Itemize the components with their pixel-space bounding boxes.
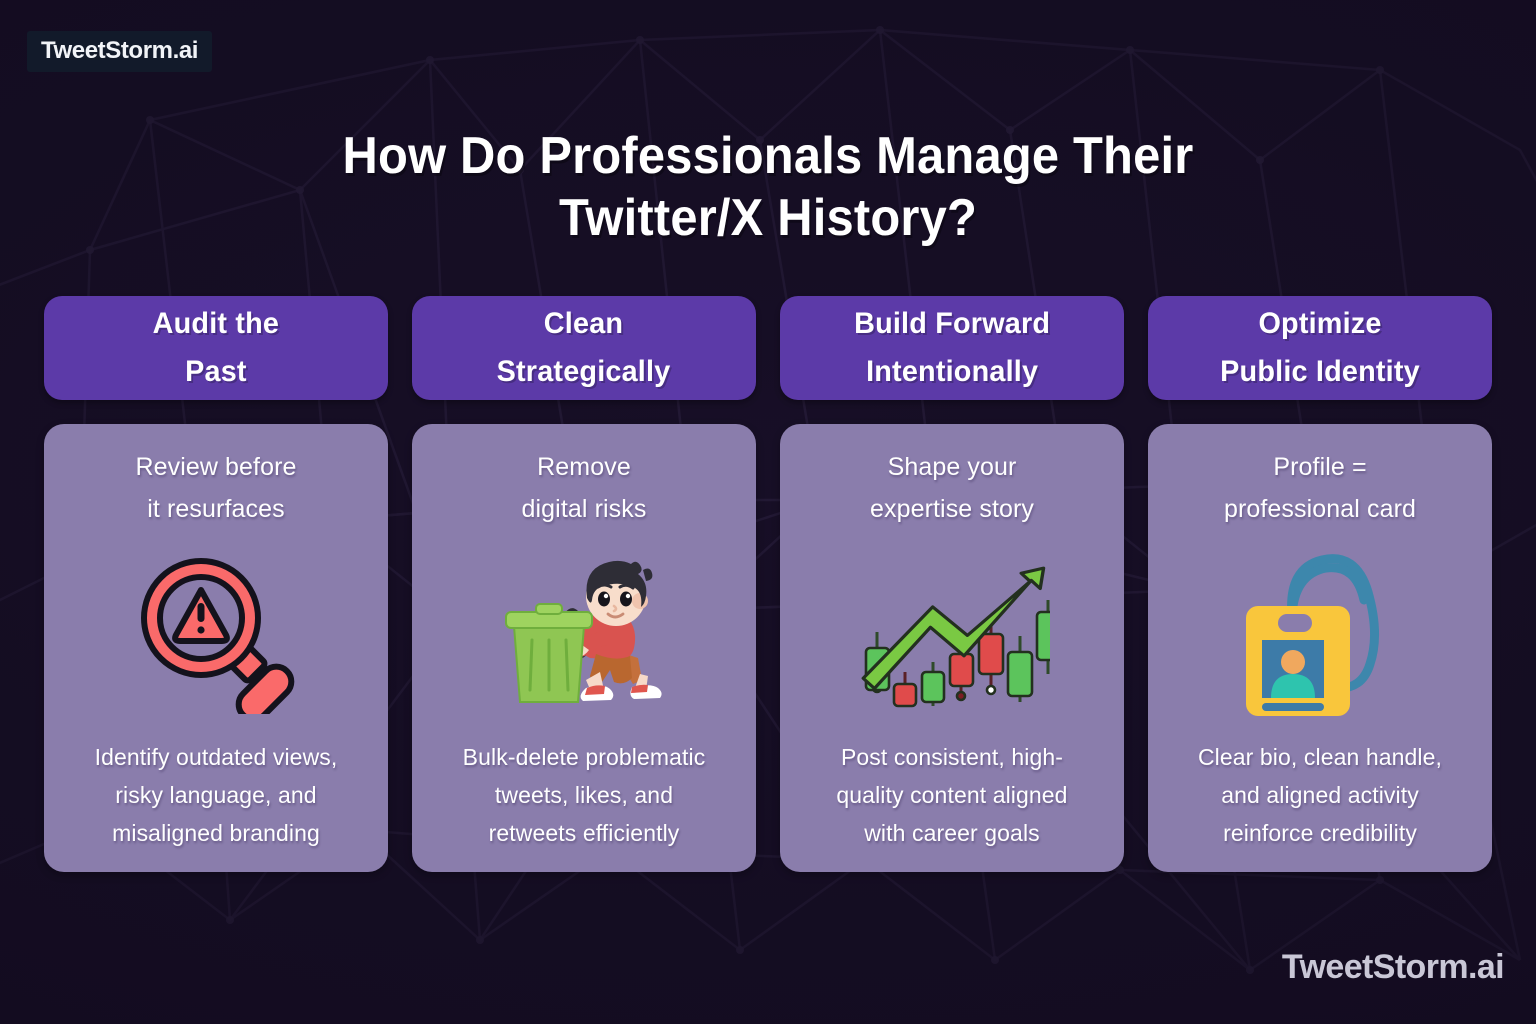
card-lead-line-2: it resurfaces [135, 488, 296, 530]
card-lead-block: Remove digital risks [522, 446, 647, 530]
card-desc-line-1: Bulk-delete problematic [463, 738, 706, 776]
card-desc-block: Identify outdated views, risky language,… [95, 738, 338, 852]
growth-candlestick-arrow-icon [855, 554, 1050, 714]
column-build-forward-intentionally: Build Forward Intentionally Shape your e… [780, 296, 1124, 872]
card-desc-line-3: reinforce credibility [1198, 814, 1442, 852]
card-body-build-forward-intentionally: Shape your expertise story [780, 424, 1124, 872]
brand-watermark: TweetStorm.ai [1282, 950, 1504, 984]
card-header-line-2: Past [153, 348, 280, 396]
card-icon-slot [794, 530, 1110, 738]
card-desc-line-3: misaligned branding [95, 814, 338, 852]
column-audit-the-past: Audit the Past Review before it resurfac… [44, 296, 388, 872]
card-desc-line-1: Identify outdated views, [95, 738, 338, 776]
infographic-canvas: TweetStorm.ai How Do Professionals Manag… [0, 0, 1536, 1024]
card-lead-line-1: Shape your [870, 446, 1034, 488]
card-lead-block: Review before it resurfaces [135, 446, 296, 530]
card-lead-line-1: Review before [135, 446, 296, 488]
card-body-optimize-public-identity: Profile = professional card [1148, 424, 1492, 872]
page-title-line-2: Twitter/X History? [46, 187, 1490, 249]
page-title: How Do Professionals Manage Their Twitte… [0, 125, 1536, 249]
card-header-line-2: Public Identity [1220, 348, 1420, 396]
column-optimize-public-identity: Optimize Public Identity Profile = profe… [1148, 296, 1492, 872]
card-desc-line-1: Clear bio, clean handle, [1198, 738, 1442, 776]
card-desc-line-1: Post consistent, high- [836, 738, 1067, 776]
magnifier-warning-icon [129, 554, 304, 714]
card-desc-block: Post consistent, high- quality content a… [836, 738, 1067, 852]
card-desc-block: Bulk-delete problematic tweets, likes, a… [463, 738, 706, 852]
boy-trash-bin-icon [492, 554, 677, 714]
card-desc-block: Clear bio, clean handle, and aligned act… [1198, 738, 1442, 852]
columns-container: Audit the Past Review before it resurfac… [44, 296, 1492, 872]
brand-logo: TweetStorm.ai [27, 31, 212, 72]
card-icon-slot [58, 530, 374, 738]
card-header-line-1: Clean [497, 300, 671, 348]
card-desc-line-2: quality content aligned [836, 776, 1067, 814]
card-lead-line-2: expertise story [870, 488, 1034, 530]
card-header-line-2: Intentionally [854, 348, 1050, 396]
card-lead-line-2: professional card [1224, 488, 1416, 530]
card-desc-line-3: with career goals [836, 814, 1067, 852]
card-header-build-forward-intentionally[interactable]: Build Forward Intentionally [780, 296, 1124, 400]
card-header-line-1: Build Forward [854, 300, 1050, 348]
card-header-line-2: Strategically [497, 348, 671, 396]
card-lead-block: Shape your expertise story [870, 446, 1034, 530]
card-lead-line-2: digital risks [522, 488, 647, 530]
card-header-line-1: Audit the [153, 300, 280, 348]
card-header-audit-the-past[interactable]: Audit the Past [44, 296, 388, 400]
brand-watermark-text: TweetStorm.ai [1282, 950, 1504, 984]
card-header-optimize-public-identity[interactable]: Optimize Public Identity [1148, 296, 1492, 400]
card-body-audit-the-past: Review before it resurfaces [44, 424, 388, 872]
card-lead-line-1: Profile = [1224, 446, 1416, 488]
card-desc-line-2: and aligned activity [1198, 776, 1442, 814]
card-desc-line-3: retweets efficiently [463, 814, 706, 852]
card-lead-block: Profile = professional card [1224, 446, 1416, 530]
card-desc-line-2: tweets, likes, and [463, 776, 706, 814]
card-icon-slot [426, 530, 742, 738]
brand-logo-text: TweetStorm.ai [41, 39, 198, 63]
card-header-clean-strategically[interactable]: Clean Strategically [412, 296, 756, 400]
column-clean-strategically: Clean Strategically Remove digital risks [412, 296, 756, 872]
card-header-line-1: Optimize [1220, 300, 1420, 348]
card-icon-slot [1162, 530, 1478, 738]
card-body-clean-strategically: Remove digital risks [412, 424, 756, 872]
page-title-line-1: How Do Professionals Manage Their [46, 125, 1490, 187]
card-desc-line-2: risky language, and [95, 776, 338, 814]
id-badge-lanyard-icon [1230, 548, 1410, 720]
card-lead-line-1: Remove [522, 446, 647, 488]
